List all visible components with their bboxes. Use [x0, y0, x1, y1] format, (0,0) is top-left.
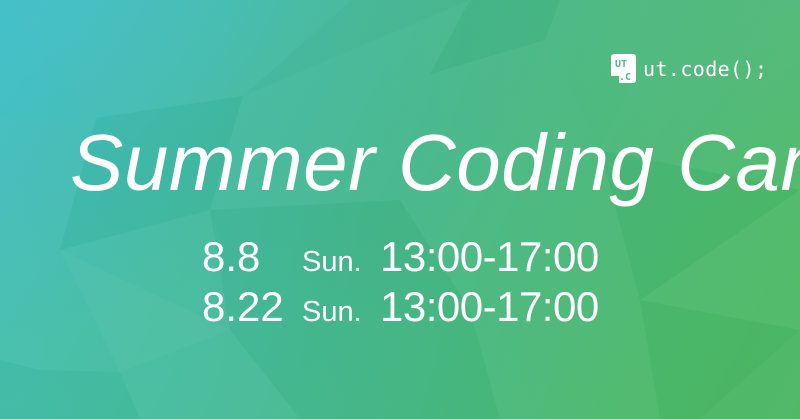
page-title: Summer Coding Camp [70, 123, 800, 203]
session-date: 8.8 [202, 236, 302, 278]
svg-text:.C: .C [619, 72, 631, 83]
brand-logo-lockup[interactable]: UT .C ut.code(); [611, 54, 767, 83]
schedule-list: 8.8 Sun. 13:00-17:00 8.22 Sun. 13:00-17:… [202, 236, 599, 336]
ut-code-logo-icon: UT .C [611, 54, 636, 83]
session-time: 13:00-17:00 [380, 286, 599, 328]
summer-coding-camp-banner: UT .C ut.code(); Summer Coding Camp 8.8 … [0, 0, 800, 419]
session-date: 8.22 [202, 286, 302, 328]
session-weekday: Sun. [302, 248, 380, 277]
session-weekday: Sun. [302, 298, 380, 327]
schedule-row: 8.22 Sun. 13:00-17:00 [202, 286, 599, 336]
svg-text:UT: UT [615, 59, 627, 70]
schedule-row: 8.8 Sun. 13:00-17:00 [202, 236, 599, 286]
session-time: 13:00-17:00 [380, 236, 599, 278]
brand-wordmark: ut.code(); [643, 59, 767, 79]
